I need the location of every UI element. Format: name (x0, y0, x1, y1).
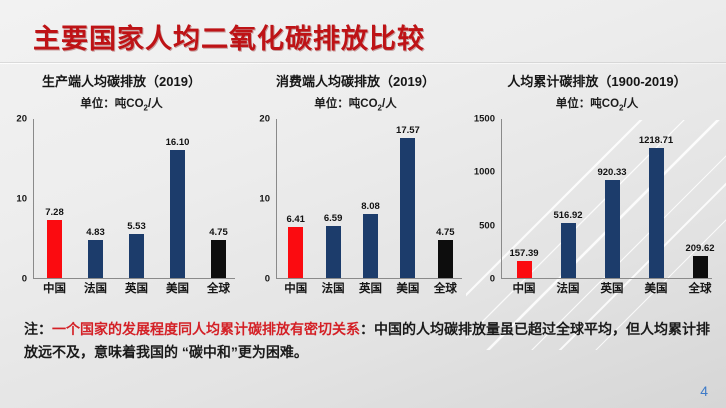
x-tick-usa: 美国 (634, 280, 678, 299)
bar-world[interactable] (211, 240, 226, 278)
bar-item[interactable]: 6.59 (314, 119, 351, 278)
bar-usa[interactable] (400, 138, 415, 278)
bar-item[interactable]: 920.33 (590, 119, 634, 278)
bar-item[interactable]: 8.08 (352, 119, 389, 278)
x-tick-france: 法国 (314, 280, 351, 299)
bar-value-label: 6.41 (286, 214, 305, 225)
x-tick-china: 中国 (34, 280, 75, 299)
y-tick: 10 (16, 194, 27, 205)
bar-value-label: 516.92 (553, 210, 582, 221)
bar-value-label: 209.62 (685, 243, 714, 254)
chart-production-per-capita: 生产端人均碳排放（2019） 单位：吨CO2/人 20 10 0 7.28 4.… (0, 68, 243, 308)
x-axis-line (276, 278, 462, 279)
title-divider (0, 62, 726, 64)
x-tick-uk: 英国 (116, 280, 157, 299)
chart-unit-prefix: 单位：吨CO (314, 98, 377, 110)
bar-uk[interactable] (129, 234, 144, 278)
bar-value-label: 4.75 (209, 227, 228, 238)
x-tick-china: 中国 (502, 280, 546, 299)
charts-container: 生产端人均碳排放（2019） 单位：吨CO2/人 20 10 0 7.28 4.… (0, 68, 726, 308)
bar-usa[interactable] (170, 150, 185, 278)
x-tick-world: 全球 (678, 280, 722, 299)
bar-series: 6.41 6.59 8.08 17.57 4.75 (277, 119, 464, 278)
bar-value-label: 6.59 (324, 213, 343, 224)
bar-uk[interactable] (605, 180, 620, 278)
plot-area: 1500 1000 500 0 157.39 516.92 920.33 (468, 119, 726, 299)
page-number: 4 (700, 383, 708, 399)
bar-china[interactable] (47, 220, 62, 278)
x-tick-france: 法国 (546, 280, 590, 299)
bar-value-label: 4.75 (436, 227, 455, 238)
bar-usa[interactable] (649, 148, 664, 278)
x-tick-world: 全球 (198, 280, 239, 299)
footnote-highlight: 一个国家的发展程度同人均累计碳排放有密切关系 (52, 321, 360, 337)
x-axis-labels: 中国 法国 英国 美国 全球 (502, 280, 722, 299)
x-tick-france: 法国 (75, 280, 116, 299)
y-tick: 20 (16, 114, 27, 125)
bar-value-label: 157.39 (509, 248, 538, 259)
plot-area: 20 10 0 6.41 6.59 8.08 (243, 119, 468, 299)
bar-value-label: 920.33 (597, 167, 626, 178)
slide-canvas: { "slide": { "title": "主要国家人均二氧化碳排放比较", … (0, 0, 726, 408)
y-axis: 20 10 0 (0, 119, 30, 279)
bar-china[interactable] (288, 227, 303, 278)
x-axis-line (501, 278, 712, 279)
bar-item[interactable]: 4.75 (427, 119, 464, 278)
bar-value-label: 7.28 (45, 207, 64, 218)
x-tick-china: 中国 (277, 280, 314, 299)
y-tick: 1500 (474, 114, 495, 125)
bar-uk[interactable] (363, 214, 378, 278)
bar-item[interactable]: 209.62 (678, 119, 722, 278)
chart-unit-prefix: 单位：吨CO (556, 98, 619, 110)
bar-france[interactable] (561, 223, 576, 278)
bar-item[interactable]: 6.41 (277, 119, 314, 278)
bar-value-label: 8.08 (361, 201, 380, 212)
chart-subtitle: 单位：吨CO2/人 (0, 95, 243, 112)
plot-area: 20 10 0 7.28 4.83 5.53 (0, 119, 243, 299)
bar-value-label: 1218.71 (639, 135, 673, 146)
y-tick: 1000 (474, 167, 495, 178)
x-tick-usa: 美国 (157, 280, 198, 299)
x-axis-labels: 中国 法国 英国 美国 全球 (34, 280, 239, 299)
y-tick: 0 (22, 274, 27, 285)
bar-item[interactable]: 5.53 (116, 119, 157, 278)
bar-item[interactable]: 7.28 (34, 119, 75, 278)
chart-subtitle: 单位：吨CO2/人 (468, 95, 726, 112)
x-tick-world: 全球 (427, 280, 464, 299)
chart-title: 消费端人均碳排放（2019） (243, 71, 468, 90)
bar-series: 7.28 4.83 5.53 16.10 4.75 (34, 119, 239, 278)
bar-value-label: 5.53 (127, 221, 146, 232)
y-tick: 0 (490, 274, 495, 285)
bar-series: 157.39 516.92 920.33 1218.71 209.62 (502, 119, 722, 278)
x-tick-usa: 美国 (389, 280, 426, 299)
x-tick-uk: 英国 (590, 280, 634, 299)
bar-item[interactable]: 17.57 (389, 119, 426, 278)
bar-value-label: 17.57 (396, 125, 420, 136)
bar-item[interactable]: 4.83 (75, 119, 116, 278)
page-title: 主要国家人均二氧化碳排放比较 (33, 17, 425, 56)
chart-title: 生产端人均碳排放（2019） (0, 71, 243, 90)
bar-item[interactable]: 16.10 (157, 119, 198, 278)
chart-unit-prefix: 单位：吨CO (80, 98, 143, 110)
chart-unit-suffix: /人 (148, 98, 163, 110)
bar-france[interactable] (326, 226, 341, 278)
chart-subtitle: 单位：吨CO2/人 (243, 95, 468, 112)
y-axis: 20 10 0 (243, 119, 273, 279)
x-axis-line (33, 278, 235, 279)
bar-value-label: 4.83 (86, 227, 105, 238)
bar-france[interactable] (88, 240, 103, 278)
y-tick: 0 (265, 274, 270, 285)
y-axis: 1500 1000 500 0 (468, 119, 498, 279)
bar-world[interactable] (438, 240, 453, 278)
bar-item[interactable]: 1218.71 (634, 119, 678, 278)
chart-title: 人均累计碳排放（1900-2019） (468, 71, 726, 90)
x-axis-labels: 中国 法国 英国 美国 全球 (277, 280, 464, 299)
x-tick-uk: 英国 (352, 280, 389, 299)
bar-world[interactable] (693, 256, 708, 278)
bar-china[interactable] (517, 261, 532, 278)
chart-cumulative-per-capita: 人均累计碳排放（1900-2019） 单位：吨CO2/人 1500 1000 5… (468, 68, 726, 308)
chart-unit-suffix: /人 (382, 98, 397, 110)
chart-unit-suffix: /人 (624, 98, 639, 110)
footnote: 注：一个国家的发展程度同人均累计碳排放有密切关系：中国的人均碳排放量虽已超过全球… (24, 318, 710, 364)
y-tick: 10 (259, 194, 270, 205)
chart-consumption-per-capita: 消费端人均碳排放（2019） 单位：吨CO2/人 20 10 0 6.41 6.… (243, 68, 468, 308)
bar-value-label: 16.10 (166, 137, 190, 148)
y-tick: 500 (479, 221, 495, 232)
y-tick: 20 (259, 114, 270, 125)
bar-item[interactable]: 516.92 (546, 119, 590, 278)
bar-item[interactable]: 4.75 (198, 119, 239, 278)
footnote-prefix: 注： (24, 321, 52, 337)
bar-item[interactable]: 157.39 (502, 119, 546, 278)
